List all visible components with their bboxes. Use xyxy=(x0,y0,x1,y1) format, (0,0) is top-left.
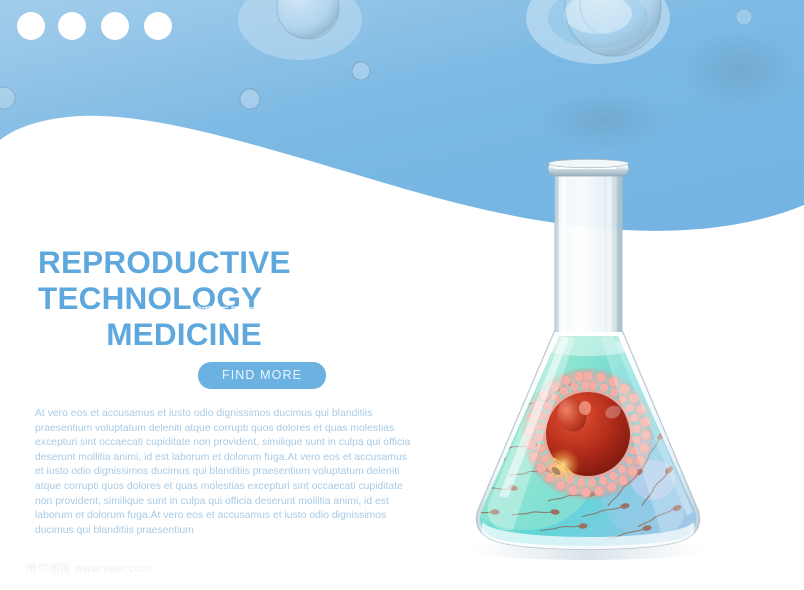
page-title: REPRODUCTIVE TECHNOLOGY MEDICINE xyxy=(0,244,470,352)
sperm-cell xyxy=(478,373,522,395)
dot-indicator xyxy=(101,12,129,40)
flask-graphic xyxy=(455,140,785,560)
banner-canvas: REPRODUCTIVE TECHNOLOGY MEDICINE FIND MO… xyxy=(0,0,804,590)
watermark-flask: 沃天 xyxy=(492,298,554,342)
watermark-mid: 沃天图库 xyxy=(196,300,264,325)
dot-indicator xyxy=(17,12,45,40)
flask-illustration xyxy=(455,140,785,560)
flask-neck xyxy=(555,174,622,332)
sperm-cell xyxy=(468,420,512,440)
watermark-footer: 维尔图库 www.veer.com xyxy=(26,560,151,576)
dot-indicator xyxy=(58,12,86,40)
flask-rim xyxy=(548,159,629,176)
dot-indicator xyxy=(144,12,172,40)
cta-row: FIND MORE xyxy=(0,362,470,389)
find-more-button[interactable]: FIND MORE xyxy=(198,362,326,389)
bubble-icon xyxy=(352,62,370,80)
hero-body-text: At vero eos et accusamus et iusto odio d… xyxy=(0,407,413,538)
bubble-icon xyxy=(736,9,752,25)
bubble-icon xyxy=(240,89,260,109)
hero-text-column: REPRODUCTIVE TECHNOLOGY MEDICINE FIND MO… xyxy=(0,244,470,538)
